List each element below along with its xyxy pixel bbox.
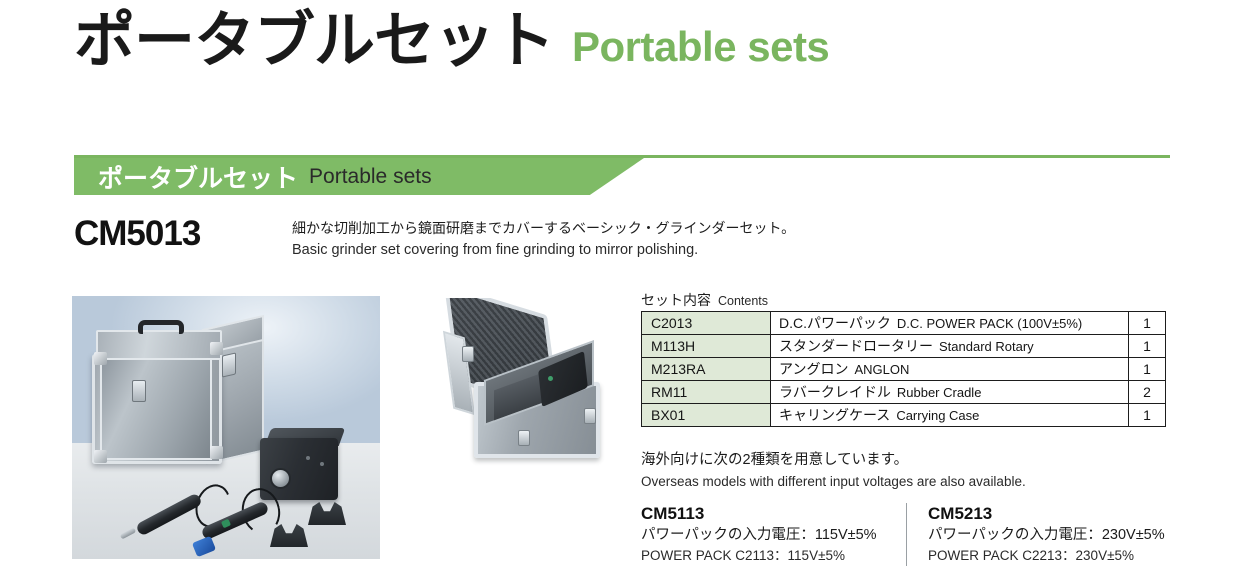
row-qty: 1 xyxy=(1129,358,1166,381)
row-code: BX01 xyxy=(642,404,771,427)
variant-code: CM5113 xyxy=(641,503,906,525)
page-title-jp: ポータブルセット xyxy=(74,8,554,72)
contents-label: セット内容 Contents xyxy=(641,290,768,310)
banner-title-en: Portable sets xyxy=(309,165,432,189)
variant-voltage-en: POWER PACK C2213：230V±5% xyxy=(928,546,1171,566)
table-row: M113H スタンダードロータリーStandard Rotary 1 xyxy=(642,335,1166,358)
page-title-en: Portable sets xyxy=(572,25,829,69)
page-title: ポータブルセット Portable sets xyxy=(74,8,829,72)
open-case-latch xyxy=(584,408,596,424)
variant-cm5113: CM5113 パワーパックの入力電圧：115V±5% POWER PACK C2… xyxy=(641,503,906,566)
model-description-en: Basic grinder set covering from fine gri… xyxy=(292,239,795,262)
row-name-jp: D.C.パワーパック xyxy=(779,315,891,331)
power-pack-indicator xyxy=(320,462,324,466)
open-case-latch xyxy=(518,430,530,446)
case-corner xyxy=(210,446,223,459)
table-row: M213RA アングロンANGLON 1 xyxy=(642,358,1166,381)
row-name: アングロンANGLON xyxy=(771,358,1129,381)
row-name: スタンダードロータリーStandard Rotary xyxy=(771,335,1129,358)
contents-label-en: Contents xyxy=(718,294,768,308)
case-corner xyxy=(210,342,223,355)
row-qty: 1 xyxy=(1129,335,1166,358)
open-case-latch xyxy=(462,346,474,362)
row-name-jp: ラバークレイドル xyxy=(779,384,891,400)
power-pack xyxy=(260,438,338,500)
row-name-jp: スタンダードロータリー xyxy=(779,338,933,354)
row-qty: 1 xyxy=(1129,404,1166,427)
row-code: M113H xyxy=(642,335,771,358)
contents-label-jp: セット内容 xyxy=(641,290,711,310)
case-latch-side xyxy=(222,352,236,377)
banner-title-jp: ポータブルセット xyxy=(98,159,298,195)
power-pack-indicator xyxy=(306,456,310,460)
row-code: M213RA xyxy=(642,358,771,381)
row-qty: 1 xyxy=(1129,312,1166,335)
case-handle xyxy=(138,320,184,334)
overseas-note-jp: 海外向けに次の2種類を用意しています。 xyxy=(641,450,1026,472)
power-pack-knob xyxy=(270,468,291,489)
row-name-jp: アングロン xyxy=(779,361,848,377)
variant-voltage-jp: パワーパックの入力電圧：115V±5% xyxy=(641,525,906,546)
row-name-jp: キャリングケース xyxy=(779,407,890,423)
variant-voltage-en: POWER PACK C2113：115V±5% xyxy=(641,546,906,566)
contents-table-body: C2013 D.C.パワーパックD.C. POWER PACK (100V±5%… xyxy=(642,312,1166,427)
model-code: CM5013 xyxy=(74,216,200,251)
banner-labels: ポータブルセット Portable sets xyxy=(98,158,432,195)
overseas-note: 海外向けに次の2種類を用意しています。 Overseas models with… xyxy=(641,450,1026,493)
case-lid xyxy=(96,330,222,360)
case-front-panel xyxy=(100,358,212,460)
open-case-photo xyxy=(436,298,628,480)
case-latch-front xyxy=(132,380,146,402)
model-description: 細かな切削加工から鏡面研磨までカバーするベーシック・グラインダーセット。 Bas… xyxy=(292,218,795,262)
product-photo-set xyxy=(72,296,380,559)
table-row: BX01 キャリングケースCarrying Case 1 xyxy=(642,404,1166,427)
row-code: C2013 xyxy=(642,312,771,335)
case-corner xyxy=(94,352,107,365)
overseas-variants: CM5113 パワーパックの入力電圧：115V±5% POWER PACK C2… xyxy=(641,503,1171,566)
row-name-en: ANGLON xyxy=(854,362,909,377)
row-name-en: Standard Rotary xyxy=(939,339,1034,354)
row-name: D.C.パワーパックD.C. POWER PACK (100V±5%) xyxy=(771,312,1129,335)
model-block: CM5013 xyxy=(74,216,200,251)
row-name-en: Carrying Case xyxy=(896,408,979,423)
overseas-note-en: Overseas models with different input vol… xyxy=(641,472,1026,493)
open-case-tool-indicator xyxy=(548,376,553,381)
contents-table: C2013 D.C.パワーパックD.C. POWER PACK (100V±5%… xyxy=(641,311,1166,427)
case-corner xyxy=(94,450,107,463)
row-name-en: D.C. POWER PACK (100V±5%) xyxy=(897,316,1082,331)
variant-cm5213: CM5213 パワーパックの入力電圧：230V±5% POWER PACK C2… xyxy=(906,503,1171,566)
row-name-en: Rubber Cradle xyxy=(897,385,982,400)
row-code: RM11 xyxy=(642,381,771,404)
table-row: RM11 ラバークレイドルRubber Cradle 2 xyxy=(642,381,1166,404)
variant-voltage-jp: パワーパックの入力電圧：230V±5% xyxy=(928,525,1171,546)
row-name: キャリングケースCarrying Case xyxy=(771,404,1129,427)
row-name: ラバークレイドルRubber Cradle xyxy=(771,381,1129,404)
variant-code: CM5213 xyxy=(928,503,1171,525)
table-row: C2013 D.C.パワーパックD.C. POWER PACK (100V±5%… xyxy=(642,312,1166,335)
model-description-jp: 細かな切削加工から鏡面研磨までカバーするベーシック・グラインダーセット。 xyxy=(292,218,795,239)
section-banner: ポータブルセット Portable sets xyxy=(74,155,1170,195)
row-qty: 2 xyxy=(1129,381,1166,404)
